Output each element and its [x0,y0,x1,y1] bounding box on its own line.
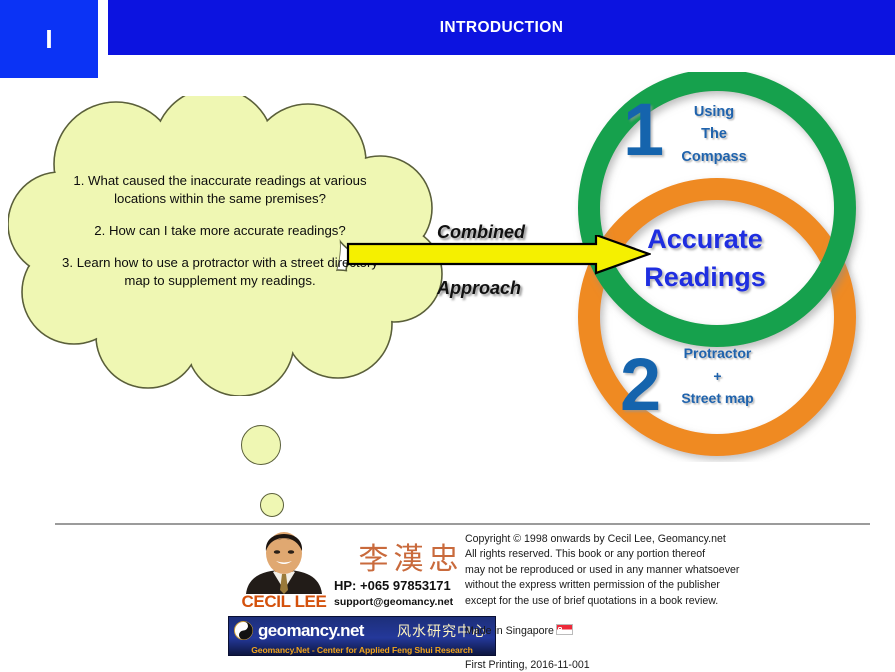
author-portrait-photo [228,532,340,594]
compass-line-2: The [667,123,761,145]
chapter-badge-number: I [45,26,52,52]
copyright-line-5: except for the use of brief quotations i… [465,594,865,609]
page-title: INTRODUCTION [440,19,564,37]
author-phone: HP: +065 97853171 [334,578,451,593]
arrow-label-approach: Approach [437,278,521,299]
copyright-line-1: Copyright © 1998 onwards by Cecil Lee, G… [465,532,865,547]
made-in-text: Made in Singapore [465,625,554,637]
thought-bubble-dot-large [241,425,281,465]
banner-top-row: geomancy.net 风水研究中心 [229,617,495,644]
geomancy-banner[interactable]: geomancy.net 风水研究中心 Geomancy.Net - Cente… [228,616,496,656]
banner-wordmark: geomancy.net [258,620,364,641]
protractor-line-2: + [665,365,770,388]
slide-canvas: I INTRODUCTION [0,0,895,672]
banner-wordmark-post: mancy.net [286,621,363,640]
venn-numeral-1: 1 [623,93,664,167]
protractor-line-1: Protractor [665,342,770,365]
copyright-line-4: without the express written permission o… [465,578,865,593]
venn-numeral-2: 2 [620,348,661,422]
author-name-plate: CECIL LEE [228,592,340,612]
singapore-flag-icon [556,624,573,635]
made-in-line: Made in Singapore [465,624,865,639]
copyright-line-2: All rights reserved. This book or any po… [465,547,865,562]
footer-divider [55,523,870,525]
footer: CECIL LEE 李漢忠 HP: +065 97853171 support@… [0,528,895,672]
copyright-block: Copyright © 1998 onwards by Cecil Lee, G… [465,532,865,672]
banner-tagline: Geomancy.Net - Center for Applied Feng S… [229,644,495,656]
chapter-badge: I [0,0,98,78]
thought-cloud-text: 1. What caused the inaccurate readings a… [60,172,380,290]
compass-line-3: Compass [667,146,761,168]
venn-label-compass: Using The Compass [667,101,761,168]
venn-label-protractor: Protractor + Street map [665,342,770,410]
cloud-item-1: 1. What caused the inaccurate readings a… [60,172,380,208]
cloud-item-2: 2. How can I take more accurate readings… [60,222,380,240]
author-chinese-name: 李漢忠 [336,534,486,578]
author-email[interactable]: support@geomancy.net [334,596,453,608]
arrow-label-combined: Combined [437,222,525,243]
compass-line-1: Using [667,101,761,123]
printing-line: First Printing, 2016-11-001 [465,658,865,672]
banner-wordmark-pre: geo [258,621,286,640]
thought-bubble-dot-small [260,493,284,517]
protractor-line-3: Street map [665,387,770,410]
header-bar: INTRODUCTION [108,0,895,55]
cloud-item-3: 3. Learn how to use a protractor with a … [60,254,380,290]
yin-yang-icon [234,621,253,640]
copyright-line-3: may not be reproduced or used in any man… [465,563,865,578]
author-block: CECIL LEE 李漢忠 HP: +065 97853171 support@… [228,532,498,662]
